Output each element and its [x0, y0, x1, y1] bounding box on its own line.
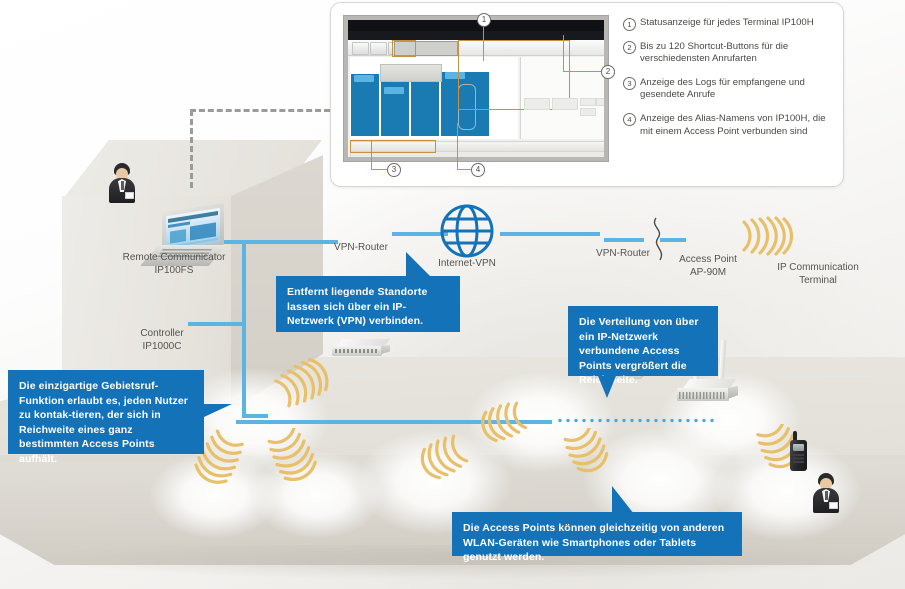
marker-3-leader-horizontal	[371, 169, 387, 170]
label-remote-communicator: Remote Communicator IP100FS	[104, 252, 244, 277]
radio-waves-ap1-lower-right	[256, 428, 328, 494]
terminal-info-block	[380, 64, 442, 82]
right-pane-row-5	[596, 98, 604, 106]
right-pane-row-3	[580, 98, 596, 106]
callout-coverage-tail	[598, 376, 616, 398]
legend-item-2: 2 Bis zu 120 Shortcut-Buttons für die ve…	[623, 41, 835, 66]
legend-number-4: 4	[623, 113, 636, 126]
terminal-tag-1	[354, 75, 374, 82]
legend-text-4: Anzeige des Alias-Namens von IP100H, die…	[640, 113, 826, 137]
marker-3-leader-vertical	[371, 141, 372, 169]
label-controller: Controller IP1000C	[110, 328, 214, 353]
toolbar-button-1	[352, 42, 369, 55]
legend-text-2: Bis zu 120 Shortcut-Buttons für die vers…	[640, 41, 788, 65]
link-internet-to-vpnrouter2	[500, 232, 600, 236]
terminal-tag-2	[384, 87, 404, 94]
radio-display	[793, 444, 804, 451]
avatar-ip-terminal-user	[812, 473, 840, 513]
avatar-tie	[121, 181, 124, 190]
right-pane-row-2	[552, 98, 578, 110]
terminal-panel-1	[351, 74, 379, 136]
shortcut-highlight	[392, 40, 416, 57]
legend-number-1: 1	[623, 18, 636, 31]
ap-antenna-right	[719, 339, 727, 381]
link-vpnrouter2-to-ap	[604, 238, 644, 242]
marker-1-leader-vertical	[483, 25, 484, 61]
log-bar-highlight	[350, 140, 436, 153]
screenshot-subbar	[348, 31, 604, 40]
wireless-bridge-ap2-ap3	[556, 418, 716, 423]
vpn-router-left-ports	[335, 349, 377, 353]
radio-waves-ap-to-terminal	[738, 212, 800, 260]
ap-side	[728, 386, 738, 399]
avatar-remote-operator	[108, 163, 136, 203]
link-trunk-to-ap1	[242, 414, 268, 418]
radio-waves-ap2-left	[470, 394, 530, 450]
radio-keypad	[793, 454, 804, 464]
legend-item-1: 1 Statusanzeige für jedes Terminal IP100…	[623, 17, 835, 30]
right-pane-row-4	[580, 108, 596, 116]
callout-coverage: Die Verteilung von über ein IP-Netzwerk …	[568, 306, 718, 376]
vpn-router-left-side	[381, 345, 390, 354]
radio-waves-ap1-upper-right	[272, 352, 344, 412]
label-ip-communication-terminal: IP Communication Terminal	[752, 262, 884, 287]
radio-waves-ap2-to-tablet	[398, 428, 470, 490]
callout-wlan: Die Access Points können gleichzeitig vo…	[452, 512, 742, 556]
legend-item-3: 3 Anzeige des Logs für empfangene und ge…	[623, 77, 835, 102]
handheld-radio-ip100h-top	[790, 431, 807, 471]
internet-globe-icon	[440, 204, 494, 258]
legend-text-1: Statusanzeige für jedes Terminal IP100H	[640, 17, 814, 28]
radio-waves-ap2-to-laptop	[552, 428, 624, 490]
network-diagram: Remote Communicator IP100FS Controller I…	[0, 0, 905, 589]
marker-1: 1	[477, 13, 491, 27]
dashed-leader-horizontal	[190, 109, 330, 112]
legend-text-3: Anzeige des Logs für empfangene und gese…	[640, 77, 805, 101]
legend-number-2: 2	[623, 41, 636, 54]
screenshot-inner	[348, 20, 604, 157]
right-pane-row-1	[524, 98, 550, 110]
ip100fs-screenshot	[343, 15, 609, 162]
marker-4: 4	[471, 163, 485, 177]
legend-item-4: 4 Anzeige des Alias-Namens von IP100H, d…	[623, 113, 835, 138]
legend-list: 1 Statusanzeige für jedes Terminal IP100…	[623, 17, 835, 149]
callout-area-call: Die einzigartige Gebietsruf-Funktion erl…	[8, 370, 204, 454]
callout-wlan-tail	[612, 486, 634, 514]
marker-3: 3	[387, 163, 401, 177]
terminal-panel-3	[411, 78, 439, 136]
marker-2: 2	[601, 65, 615, 79]
callout-area-call-tail	[204, 404, 232, 417]
avatar-badge	[125, 192, 134, 199]
callout-vpn-tail	[406, 252, 432, 278]
vpn-router-left	[332, 339, 390, 356]
label-access-point: Access Point AP-90M	[656, 254, 760, 279]
link-controller-to-trunk	[188, 322, 244, 326]
software-screenshot-panel: 1 2 3 4 1 Statusanzeige für jedes Termin…	[330, 2, 844, 187]
callout-vpn: Entfernt liegende Standorte lassen sich …	[276, 276, 460, 332]
marker-4-leader-horizontal	[457, 169, 471, 170]
screenshot-titlebar	[348, 20, 604, 31]
label-vpn-router-left: VPN-Router	[308, 242, 414, 255]
marker-2-leader-vertical	[563, 35, 564, 71]
ap-vents	[679, 392, 726, 399]
marker-4-leader-vertical	[457, 123, 458, 169]
marker-2-leader-horizontal	[563, 71, 601, 72]
avatar-badge	[829, 502, 838, 509]
legend-number-3: 3	[623, 77, 636, 90]
dashed-leader-vertical	[190, 110, 193, 188]
toolbar-button-2	[370, 42, 387, 55]
label-internet-vpn: Internet-VPN	[425, 258, 509, 271]
avatar-tie	[825, 491, 828, 500]
